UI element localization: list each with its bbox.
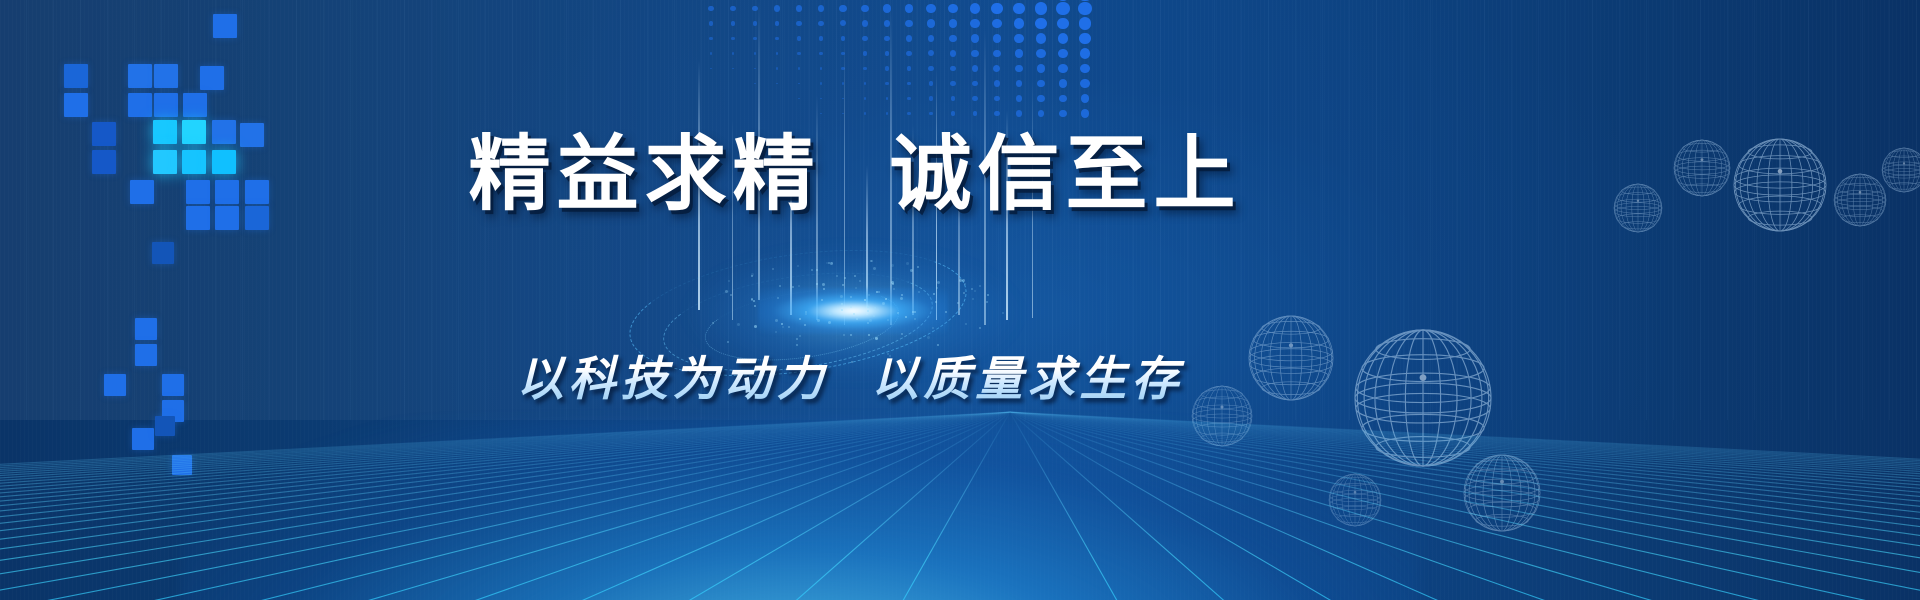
mosaic-tile (154, 64, 178, 88)
sparkle-dot (775, 319, 778, 322)
sparkle-dot (974, 290, 976, 292)
sparkle-dot (927, 336, 930, 339)
sparkle-dot (816, 269, 818, 271)
sparkle-dot (932, 327, 934, 329)
sparkle-dot (797, 265, 799, 267)
halftone-dot (1059, 95, 1067, 103)
halftone-dot (1080, 48, 1091, 59)
halftone-dot (1079, 17, 1092, 30)
sparkle-dot (844, 277, 846, 279)
sparkle-dot (877, 309, 879, 311)
sparkle-dot (730, 294, 732, 296)
sparkle-dot (878, 291, 880, 293)
sparkle-dot (910, 269, 913, 272)
halftone-dot (1081, 94, 1090, 103)
sparkle-dot (971, 288, 973, 290)
sparkle-dot (850, 296, 852, 298)
sparkle-dot (854, 275, 856, 277)
sparkle-dot (725, 290, 728, 293)
sparkle-dot (965, 323, 967, 325)
sparkle-dot (799, 335, 801, 337)
sparkle-dot (826, 262, 828, 264)
sparkle-dot (843, 334, 845, 336)
halftone-dot (1080, 64, 1090, 74)
sparkle-dot (788, 326, 790, 328)
sparkle-dot (869, 319, 872, 322)
sparkle-dot (836, 275, 838, 277)
halftone-dot (1079, 33, 1091, 45)
sparkle-dot (873, 267, 876, 270)
sparkle-dot (893, 288, 895, 290)
mosaic-tile (128, 64, 152, 88)
sparkle-dot (935, 301, 937, 303)
sparkle-dot (864, 299, 866, 301)
sparkle-dot (873, 315, 875, 317)
sparkle-dot (868, 334, 870, 336)
sparkle-dot (870, 260, 872, 262)
sparkle-dot (891, 281, 894, 284)
sparkle-dot (850, 306, 852, 308)
sparkle-dot (868, 294, 870, 296)
sparkle-dot (987, 294, 989, 296)
sparkle-dot (876, 291, 878, 293)
sparkle-dot (918, 291, 920, 293)
sparkle-dot (986, 301, 988, 303)
mosaic-tile (152, 242, 174, 264)
sparkle-dot (887, 319, 889, 321)
sparkle-dot (822, 283, 825, 286)
mosaic-tile (135, 318, 157, 340)
sparkle-dot (1002, 312, 1004, 314)
halftone-dot (1080, 79, 1089, 88)
sparkle-dot (867, 306, 869, 308)
sparkle-dot (753, 300, 755, 302)
sparkle-dot (816, 283, 818, 285)
sparkle-dot (957, 302, 959, 304)
sparkle-dot (775, 331, 777, 333)
halftone-dot (1078, 2, 1092, 16)
sparkle-dot (885, 298, 887, 300)
sparkle-dot (828, 321, 831, 324)
sparkle-dot (829, 312, 832, 315)
sparkle-dot (823, 288, 825, 290)
sparkle-dot (914, 311, 916, 313)
hero-banner: 精益求精 诚信至上 以科技为动力 以质量求生存 (0, 0, 1920, 600)
wireframe-globe-icon (1834, 174, 1886, 226)
sparkle-dot (891, 264, 894, 267)
wireframe-globe-icon (1882, 148, 1920, 192)
sparkle-dot (817, 319, 820, 322)
sparkle-dot (914, 318, 916, 320)
sparkle-dot (917, 266, 919, 268)
sparkle-dot (882, 302, 885, 305)
sparkle-dot (859, 280, 861, 282)
sparkle-dot (841, 303, 843, 305)
sparkle-dot (979, 285, 981, 287)
sparkle-dot (754, 305, 756, 307)
sparkle-dot (945, 311, 947, 313)
sparkle-dot (830, 262, 833, 265)
sparkle-dot (867, 310, 869, 312)
halftone-dot (1059, 79, 1067, 87)
sparkle-dot (853, 313, 855, 315)
sparkle-dot (779, 285, 781, 287)
sparkle-dot (841, 309, 843, 311)
sparkle-dot (912, 311, 914, 313)
sparkle-dot (712, 322, 714, 324)
sparkle-dot (963, 292, 965, 294)
page-title: 精益求精 诚信至上 (0, 107, 1815, 226)
sparkle-dot (840, 295, 843, 298)
sparkle-dot (737, 323, 740, 326)
sparkle-dot (959, 279, 962, 282)
sparkle-dot (867, 322, 869, 324)
sparkle-dot (781, 323, 783, 325)
halftone-dot (1077, 0, 1092, 1)
sparkle-dot (936, 287, 938, 289)
sparkle-dot (874, 307, 876, 309)
page-subtitle: 以科技为动力 以质量求生存 (0, 340, 1810, 409)
sparkle-dot (799, 318, 801, 320)
sparkle-dot (937, 281, 940, 284)
sparkle-dot (804, 324, 806, 326)
sparkle-dot (900, 297, 903, 300)
sparkle-dot (821, 299, 823, 301)
sparkle-dot (772, 268, 774, 270)
sparkle-dot (792, 286, 794, 288)
sparkle-dot (777, 297, 779, 299)
sparkle-dot (811, 269, 813, 271)
sparkle-dot (782, 326, 784, 328)
sparkle-dot (754, 325, 757, 328)
sparkle-dot (972, 298, 974, 300)
mosaic-tile (64, 64, 88, 88)
floor-grid-group (0, 412, 1920, 600)
mosaic-tile (213, 14, 237, 38)
sparkle-dot (905, 316, 907, 318)
sparkle-dot (962, 279, 965, 282)
sparkle-dot (855, 287, 857, 289)
sparkle-dot (842, 284, 844, 286)
sparkle-dot (906, 262, 909, 265)
sparkle-dot (933, 293, 935, 295)
sparkle-dot (798, 285, 800, 287)
sparkle-dot (979, 327, 981, 329)
mosaic-tile (200, 66, 224, 90)
sparkle-dot (751, 275, 753, 277)
sparkle-dot (964, 283, 966, 285)
sparkle-dot (897, 312, 899, 314)
sparkle-dot (805, 313, 807, 315)
sparkle-dot (856, 318, 858, 320)
sparkle-dot (850, 334, 852, 336)
sparkle-dot (901, 333, 903, 335)
sparkle-dot (728, 280, 730, 282)
